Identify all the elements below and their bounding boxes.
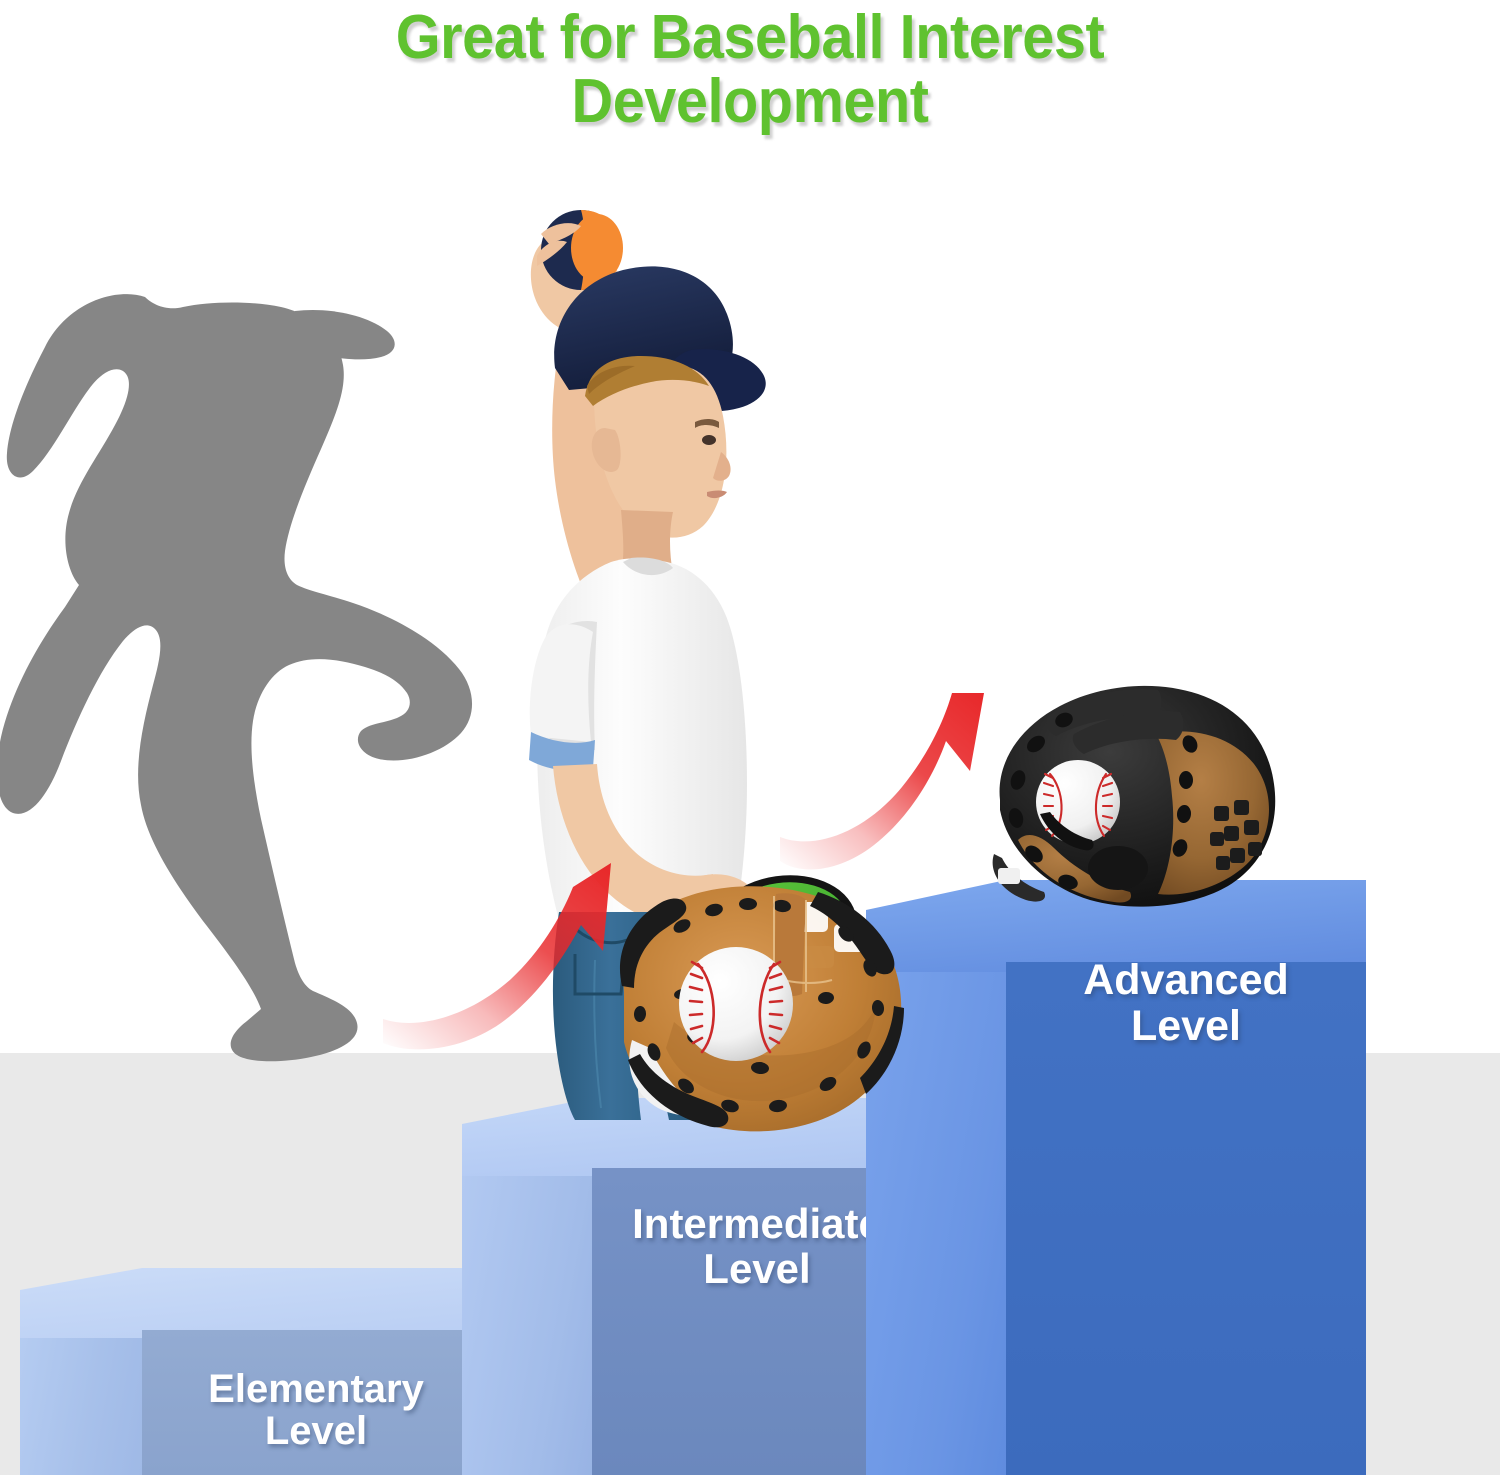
block-advanced-front-face (1006, 962, 1366, 1475)
podium-block-elementary: Elementary Level (20, 1268, 490, 1475)
black-brown-pro-baseball-glove-with-ball (978, 672, 1298, 922)
block-intermediate-side-face (462, 1124, 592, 1475)
podium-block-advanced: Advanced Level (866, 880, 1366, 1475)
block-elementary-front-face (142, 1330, 490, 1475)
headline-line-1: Great for Baseball Interest (53, 6, 1448, 70)
tan-leather-baseball-glove-with-ball (578, 872, 928, 1152)
headline-line-2: Development (53, 70, 1448, 134)
headline: Great for Baseball Interest Development (0, 6, 1500, 134)
block-elementary-top-face (20, 1268, 490, 1338)
podium-block-intermediate: Intermediate Level (462, 1098, 922, 1475)
product-infographic: Great for Baseball Interest Development (0, 0, 1500, 1475)
